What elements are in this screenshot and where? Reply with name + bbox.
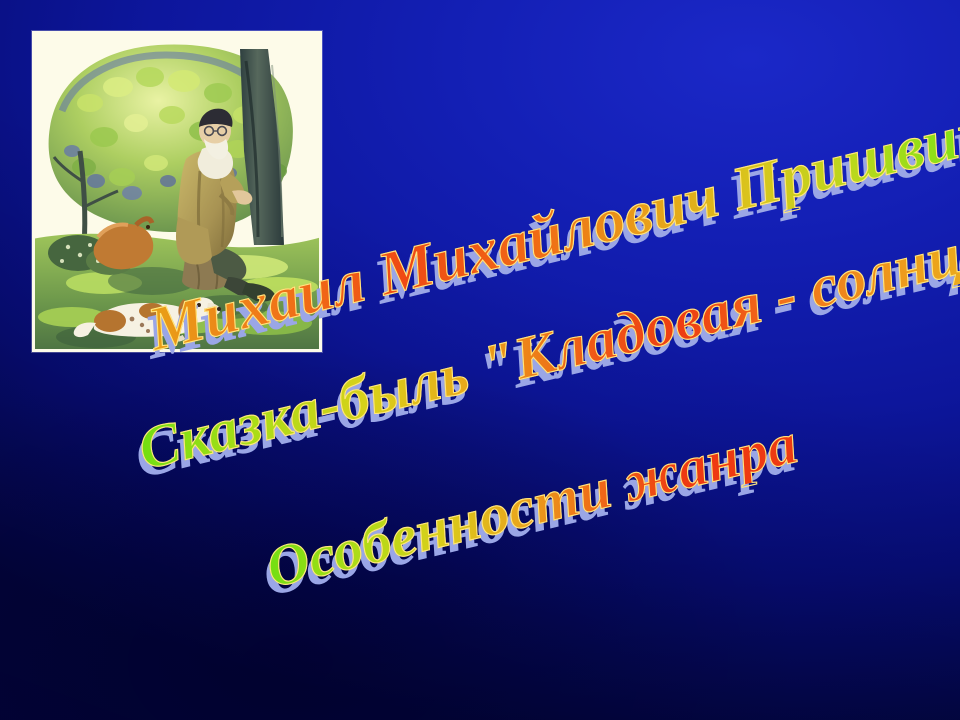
wordart-title-block: Михаил Михайлович Пришвин. Михаил Михайл…: [0, 0, 960, 720]
presentation-slide: Михаил Михайлович Пришвин. Михаил Михайл…: [0, 0, 960, 720]
